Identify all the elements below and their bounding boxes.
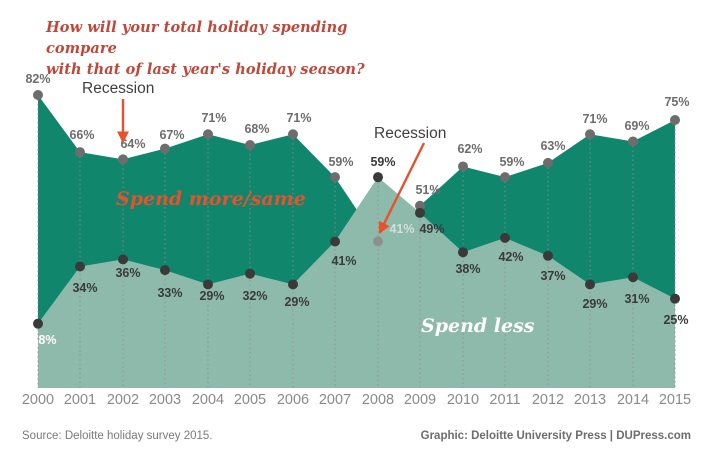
arrow-recession-2008 — [380, 143, 424, 232]
x-axis-tick-2015: 2015 — [659, 392, 691, 408]
x-axis-tick-2001: 2001 — [64, 392, 96, 408]
x-axis: 2000200120022003200420052006200720082009… — [0, 392, 713, 418]
x-axis-tick-2010: 2010 — [447, 392, 479, 408]
infographic-root: How will your total holiday spending com… — [0, 0, 713, 468]
annotation-recession-2008: Recession — [374, 125, 446, 143]
x-axis-tick-2014: 2014 — [617, 392, 649, 408]
x-axis-tick-2009: 2009 — [404, 392, 436, 408]
x-axis-tick-2005: 2005 — [234, 392, 266, 408]
x-axis-tick-2003: 2003 — [149, 392, 181, 408]
x-axis-tick-2011: 2011 — [489, 392, 520, 408]
x-axis-tick-2002: 2002 — [107, 392, 139, 408]
footer: Source: Deloitte holiday survey 2015. Gr… — [0, 430, 713, 454]
annotation-recession-2002: Recession — [82, 80, 154, 98]
x-axis-tick-2012: 2012 — [532, 392, 564, 408]
x-axis-tick-2007: 2007 — [319, 392, 351, 408]
x-axis-tick-2006: 2006 — [277, 392, 309, 408]
series-label-spend-less: Spend less — [421, 315, 535, 337]
series-label-spend-more-same: Spend more/same — [116, 188, 306, 210]
source-note: Source: Deloitte holiday survey 2015. — [22, 430, 213, 442]
graphic-credit: Graphic: Deloitte University Press | DUP… — [421, 430, 691, 442]
x-axis-tick-2008: 2008 — [362, 392, 394, 408]
x-axis-tick-2013: 2013 — [574, 392, 606, 408]
x-axis-tick-2000: 2000 — [22, 392, 54, 408]
x-axis-tick-2004: 2004 — [192, 392, 224, 408]
